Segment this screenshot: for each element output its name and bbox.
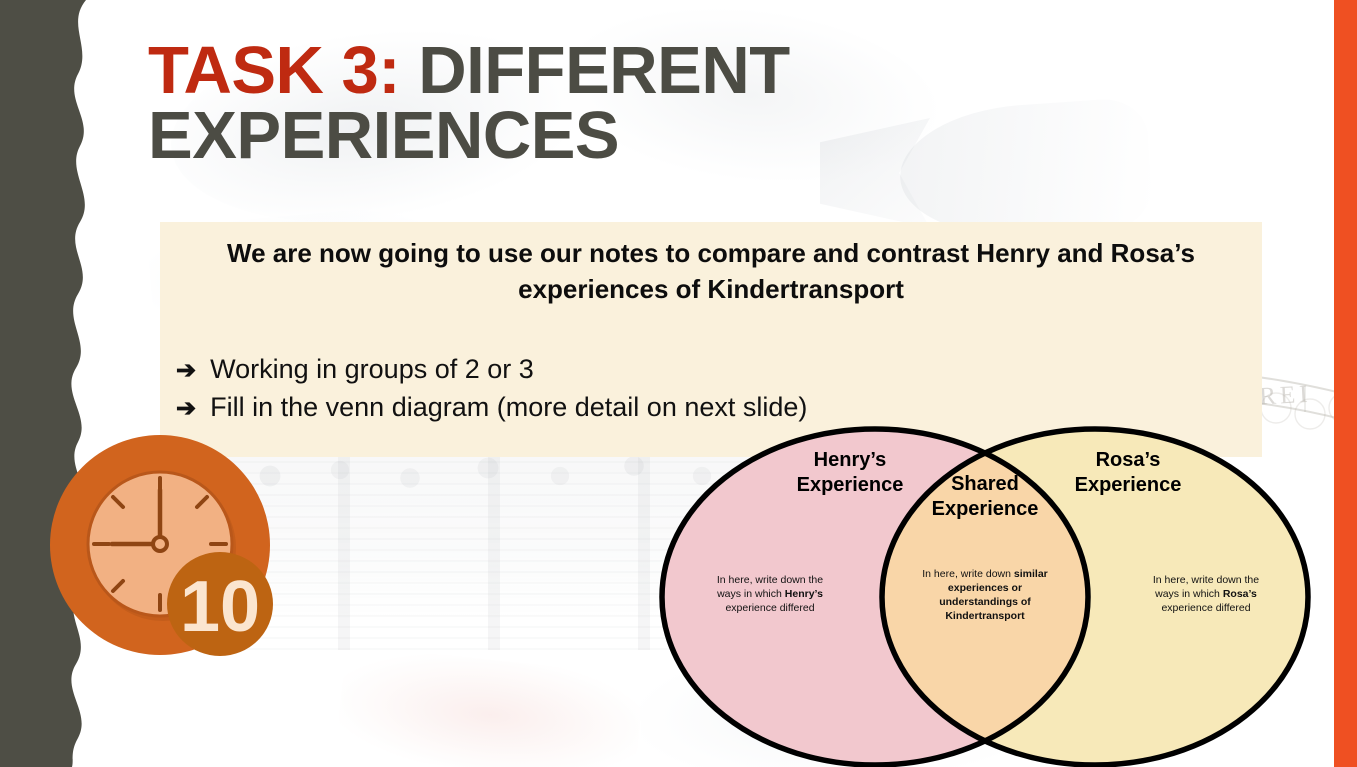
svg-text:In here, write down the: In here, write down the [1153, 574, 1259, 586]
timer-minutes-value: 10 [180, 567, 260, 647]
svg-text:ways in which Rosa’s: ways in which Rosa’s [1154, 588, 1257, 600]
svg-text:experience differed: experience differed [725, 602, 814, 614]
svg-text:ways in which Henry’s: ways in which Henry’s [716, 588, 823, 600]
instruction-bullet-list: ➔ Working in groups of 2 or 3 ➔ Fill in … [176, 350, 1076, 427]
svg-text:Kindertransport: Kindertransport [945, 610, 1025, 622]
svg-text:In here, write down similar: In here, write down similar [922, 568, 1048, 580]
bullet-text: Working in groups of 2 or 3 [210, 350, 534, 388]
svg-text:Experience: Experience [1075, 474, 1182, 496]
svg-text:experiences or: experiences or [948, 582, 1022, 594]
arrow-right-icon: ➔ [176, 354, 196, 388]
arrow-right-icon: ➔ [176, 392, 196, 426]
venn-diagram: Henry’s Experience In here, write down t… [655, 422, 1315, 767]
timer-hand-pivot [153, 537, 167, 551]
svg-text:Henry’s: Henry’s [814, 449, 887, 471]
slide-canvas: ARBEIT MACHT FREI TASK 3: DIFFERENT EXPE… [0, 0, 1357, 767]
countdown-timer: 10 [50, 432, 282, 658]
venn-left-body: In here, write down the ways in which He… [716, 574, 823, 614]
svg-text:experience differed: experience differed [1161, 602, 1250, 614]
right-accent-bar [1334, 0, 1357, 767]
page-title: TASK 3: DIFFERENT EXPERIENCES [148, 38, 928, 168]
instruction-lead-text: We are now going to use our notes to com… [174, 236, 1248, 308]
svg-text:understandings of: understandings of [939, 596, 1031, 608]
svg-text:Shared: Shared [951, 473, 1019, 495]
list-item: ➔ Fill in the venn diagram (more detail … [176, 388, 1076, 426]
svg-text:In here, write down the: In here, write down the [717, 574, 823, 586]
background-plane-red [335, 645, 645, 767]
title-accent: TASK 3: [148, 33, 400, 108]
list-item: ➔ Working in groups of 2 or 3 [176, 350, 1076, 388]
svg-text:Experience: Experience [932, 498, 1039, 520]
svg-text:Rosa’s: Rosa’s [1096, 449, 1161, 471]
svg-text:Experience: Experience [797, 474, 904, 496]
venn-right-body: In here, write down the ways in which Ro… [1153, 574, 1259, 614]
bullet-text: Fill in the venn diagram (more detail on… [210, 388, 807, 426]
